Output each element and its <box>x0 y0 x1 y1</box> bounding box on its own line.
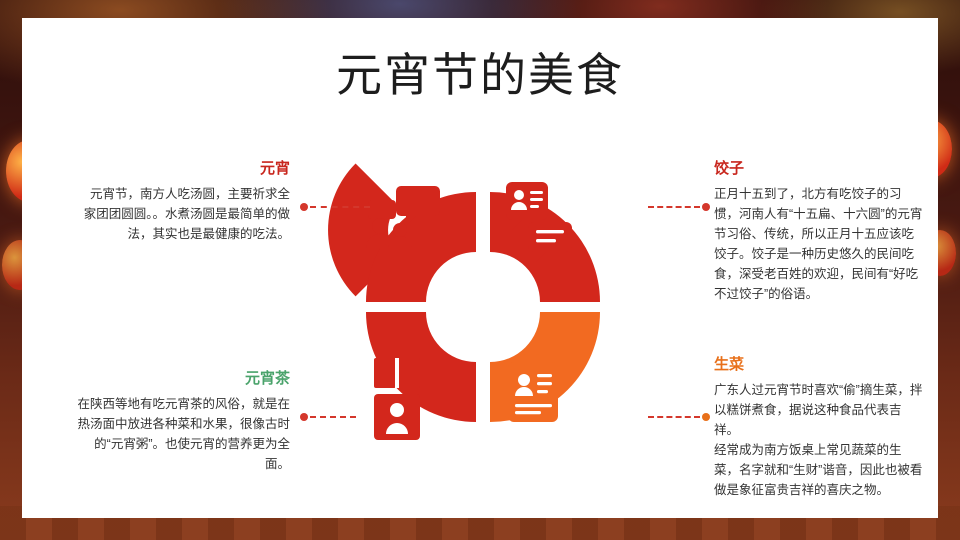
block-yuanxiaocha-text: 在陕西等地有吃元宵茶的风俗，就是在热汤面中放进各种菜和水果，很像古时的“元宵粥”… <box>70 394 290 474</box>
block-jiaozi-heading: 饺子 <box>714 160 926 178</box>
page-title: 元宵节的美食 <box>22 52 938 98</box>
block-yuanxiaocha-heading: 元宵茶 <box>70 370 290 388</box>
book-reader-icon <box>374 358 420 440</box>
connector-dot <box>702 413 710 421</box>
block-yuanxiaocha: 元宵茶 在陕西等地有吃元宵茶的风俗，就是在热汤面中放进各种菜和水果，很像古时的“… <box>70 370 290 474</box>
block-yuanxiao-heading: 元宵 <box>80 160 290 178</box>
connector-top-right <box>648 206 710 208</box>
connector-dot <box>300 413 308 421</box>
block-jiaozi: 饺子 正月十五到了，北方有吃饺子的习惯，河南人有“十五扁、十六圆”的元宵节习俗、… <box>714 160 926 304</box>
block-shengcai-heading: 生菜 <box>714 356 926 374</box>
connector-dot <box>300 203 308 211</box>
block-shengcai-text: 广东人过元宵节时喜欢“偷”摘生菜，拌以糕饼煮食，据说这种食品代表吉祥。 经常成为… <box>714 380 926 500</box>
block-shengcai: 生菜 广东人过元宵节时喜欢“偷”摘生菜，拌以糕饼煮食，据说这种食品代表吉祥。 经… <box>714 356 926 500</box>
connector-bottom-right <box>648 416 710 418</box>
connector-line <box>310 416 356 418</box>
connector-line <box>648 206 700 208</box>
connector-bottom-left <box>300 416 356 418</box>
block-yuanxiao: 元宵 元宵节，南方人吃汤圆，主要祈求全家团团圆圆。。水煮汤圆是最简单的做法，其实… <box>80 160 290 244</box>
block-jiaozi-text: 正月十五到了，北方有吃饺子的习惯，河南人有“十五扁、十六圆”的元宵节习俗、传统，… <box>714 184 926 304</box>
connector-dot <box>702 203 710 211</box>
connector-line <box>648 416 700 418</box>
connector-line <box>310 206 370 208</box>
id-card-icon <box>508 354 558 422</box>
four-arc-diagram <box>318 142 648 472</box>
slide-card: 元宵节的美食 <box>22 18 938 518</box>
connector-top-left <box>300 206 370 208</box>
block-yuanxiao-text: 元宵节，南方人吃汤圆，主要祈求全家团团圆圆。。水煮汤圆是最简单的做法，其实也是最… <box>80 184 290 244</box>
